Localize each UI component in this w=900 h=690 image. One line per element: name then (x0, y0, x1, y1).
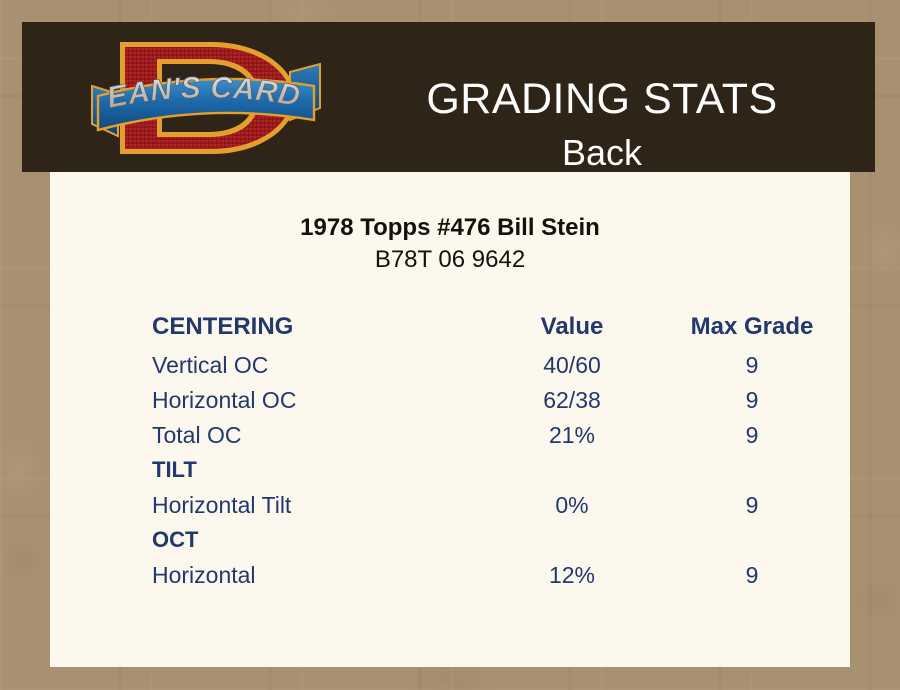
stat-value: 62/38 (482, 385, 662, 420)
section-header-label: TILT (152, 455, 482, 490)
table-row: Horizontal OC62/389 (152, 385, 842, 420)
card-title: 1978 Topps #476 Bill Stein (50, 214, 850, 242)
value-column-header (482, 455, 662, 490)
grade-column-header (662, 525, 842, 560)
grade-column-header (662, 455, 842, 490)
content-panel: 1978 Topps #476 Bill Stein B78T 06 9642 … (50, 172, 850, 667)
stat-max-grade: 9 (662, 490, 842, 525)
stat-value: 0% (482, 490, 662, 525)
section-header-label: CENTERING (152, 312, 482, 350)
deans-cards-logo: DEAN'S CARDS (84, 24, 328, 172)
table-row: Horizontal12%9 (152, 560, 842, 595)
stat-max-grade: 9 (662, 420, 842, 455)
page-title: GRADING STATS (328, 74, 876, 124)
stat-value: 21% (482, 420, 662, 455)
page-subtitle: Back (328, 132, 876, 174)
stat-label: Horizontal Tilt (152, 490, 482, 525)
stats-table-body: CENTERINGValueMax GradeVertical OC40/609… (152, 312, 842, 595)
table-row: Vertical OC40/609 (152, 350, 842, 385)
grading-stats-table: CENTERINGValueMax GradeVertical OC40/609… (152, 312, 842, 595)
stat-label: Horizontal (152, 560, 482, 595)
stat-label: Vertical OC (152, 350, 482, 385)
section-header-label: OCT (152, 525, 482, 560)
section-header-row: OCT (152, 525, 842, 560)
table-row: Total OC21%9 (152, 420, 842, 455)
stat-max-grade: 9 (662, 560, 842, 595)
stat-label: Horizontal OC (152, 385, 482, 420)
table-row: Horizontal Tilt0%9 (152, 490, 842, 525)
stat-max-grade: 9 (662, 350, 842, 385)
value-column-header: Value (482, 312, 662, 350)
grade-column-header: Max Grade (662, 312, 842, 350)
table-header-row: CENTERINGValueMax Grade (152, 312, 842, 350)
section-header-row: TILT (152, 455, 842, 490)
stat-max-grade: 9 (662, 385, 842, 420)
stat-value: 40/60 (482, 350, 662, 385)
value-column-header (482, 525, 662, 560)
stat-label: Total OC (152, 420, 482, 455)
stat-value: 12% (482, 560, 662, 595)
card-serial: B78T 06 9642 (50, 246, 850, 274)
header-bar: DEAN'S CARDS GRADING STATS Back (22, 22, 875, 172)
